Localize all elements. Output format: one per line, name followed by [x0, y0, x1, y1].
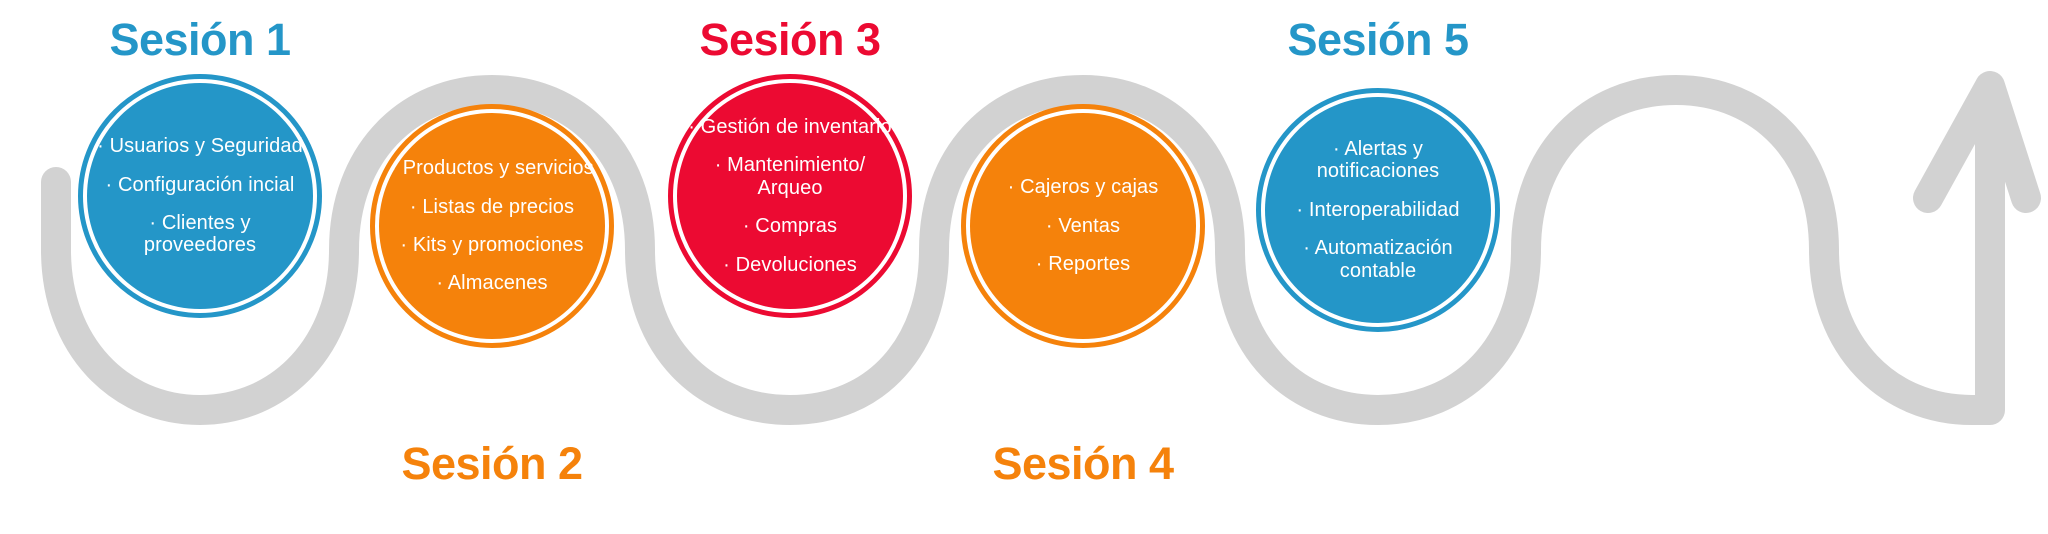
list-item: · Listas de precios [379, 196, 605, 218]
session-body-2: · Productos y servicios · Listas de prec… [379, 113, 605, 339]
bullet-dot-icon: · [723, 254, 730, 276]
bullet-dot-icon: · [1036, 253, 1043, 275]
session-node-4[interactable]: · Cajeros y cajas · Ventas · Reportes [961, 104, 1205, 348]
bullet-text: Cajeros y cajas [1020, 176, 1158, 198]
bullet-text: Almacenes [448, 272, 548, 294]
session-bullet-list-5: · Alertas y notificaciones · Interoperab… [1265, 138, 1491, 282]
session-nodes: · Usuarios y Seguridad · Configuración i… [0, 0, 2048, 534]
bullet-dot-icon: · [1296, 199, 1303, 221]
session-title-4: Sesión 4 [961, 438, 1205, 490]
list-item: · Devoluciones [677, 254, 903, 276]
bullet-text: Gestión de inventario [701, 116, 892, 138]
bullet-text: Automatización contable [1315, 237, 1453, 281]
bullet-text: Compras [755, 215, 837, 237]
list-item: · Cajeros y cajas [970, 176, 1196, 198]
session-title-2: Sesión 2 [370, 438, 614, 490]
infographic-canvas: · Usuarios y Seguridad · Configuración i… [0, 0, 2048, 534]
bullet-text: Configuración incial [118, 174, 295, 196]
list-item: · Kits y promociones [379, 234, 605, 256]
session-node-3[interactable]: · Gestión de inventario · Mantenimiento/… [668, 74, 912, 318]
list-item: · Reportes [970, 253, 1196, 275]
bullet-text: Interoperabilidad [1309, 199, 1460, 221]
bullet-dot-icon: · [97, 135, 104, 157]
bullet-text: Usuarios y Seguridad [110, 135, 303, 157]
list-item: · Usuarios y Seguridad [87, 135, 313, 157]
session-body-1: · Usuarios y Seguridad · Configuración i… [87, 83, 313, 309]
list-item: · Compras [677, 215, 903, 237]
session-node-1[interactable]: · Usuarios y Seguridad · Configuración i… [78, 74, 322, 318]
bullet-dot-icon: · [1333, 138, 1340, 160]
bullet-dot-icon: · [410, 196, 417, 218]
list-item: · Automatización contable [1265, 237, 1491, 282]
list-item: · Almacenes [379, 272, 605, 294]
bullet-text: Devoluciones [736, 254, 857, 276]
bullet-text: Mantenimiento/ Arqueo [727, 154, 865, 198]
session-title-1: Sesión 1 [78, 14, 322, 66]
bullet-text: Reportes [1048, 253, 1130, 275]
bullet-dot-icon: · [149, 212, 156, 234]
session-node-5[interactable]: · Alertas y notificaciones · Interoperab… [1256, 88, 1500, 332]
list-item: · Mantenimiento/ Arqueo [677, 154, 903, 199]
bullet-text: Productos y servicios [403, 157, 594, 179]
bullet-text: Kits y promociones [413, 234, 584, 256]
bullet-dot-icon: · [390, 157, 397, 179]
session-bullet-list-4: · Cajeros y cajas · Ventas · Reportes [970, 176, 1196, 275]
bullet-text: Listas de precios [422, 196, 574, 218]
bullet-dot-icon: · [1303, 237, 1310, 259]
session-bullet-list-2: · Productos y servicios · Listas de prec… [379, 157, 605, 295]
session-bullet-list-1: · Usuarios y Seguridad · Configuración i… [87, 135, 313, 257]
list-item: · Alertas y notificaciones [1265, 138, 1491, 183]
session-body-4: · Cajeros y cajas · Ventas · Reportes [970, 113, 1196, 339]
bullet-dot-icon: · [1008, 176, 1015, 198]
bullet-dot-icon: · [106, 174, 113, 196]
bullet-dot-icon: · [688, 116, 695, 138]
bullet-text: Ventas [1058, 215, 1120, 237]
list-item: · Interoperabilidad [1265, 199, 1491, 221]
session-body-3: · Gestión de inventario · Mantenimiento/… [677, 83, 903, 309]
session-title-5: Sesión 5 [1256, 14, 1500, 66]
list-item: · Ventas [970, 215, 1196, 237]
session-node-2[interactable]: · Productos y servicios · Listas de prec… [370, 104, 614, 348]
list-item: · Productos y servicios [379, 157, 605, 179]
list-item: · Gestión de inventario [677, 116, 903, 138]
bullet-text: Clientes y proveedores [144, 212, 256, 256]
bullet-dot-icon: · [400, 234, 407, 256]
bullet-dot-icon: · [715, 154, 722, 176]
bullet-dot-icon: · [1046, 215, 1053, 237]
list-item: · Configuración incial [87, 174, 313, 196]
list-item: · Clientes y proveedores [87, 212, 313, 257]
session-title-3: Sesión 3 [668, 14, 912, 66]
session-bullet-list-3: · Gestión de inventario · Mantenimiento/… [677, 116, 903, 276]
bullet-dot-icon: · [436, 272, 443, 294]
session-body-5: · Alertas y notificaciones · Interoperab… [1265, 97, 1491, 323]
bullet-dot-icon: · [743, 215, 750, 237]
